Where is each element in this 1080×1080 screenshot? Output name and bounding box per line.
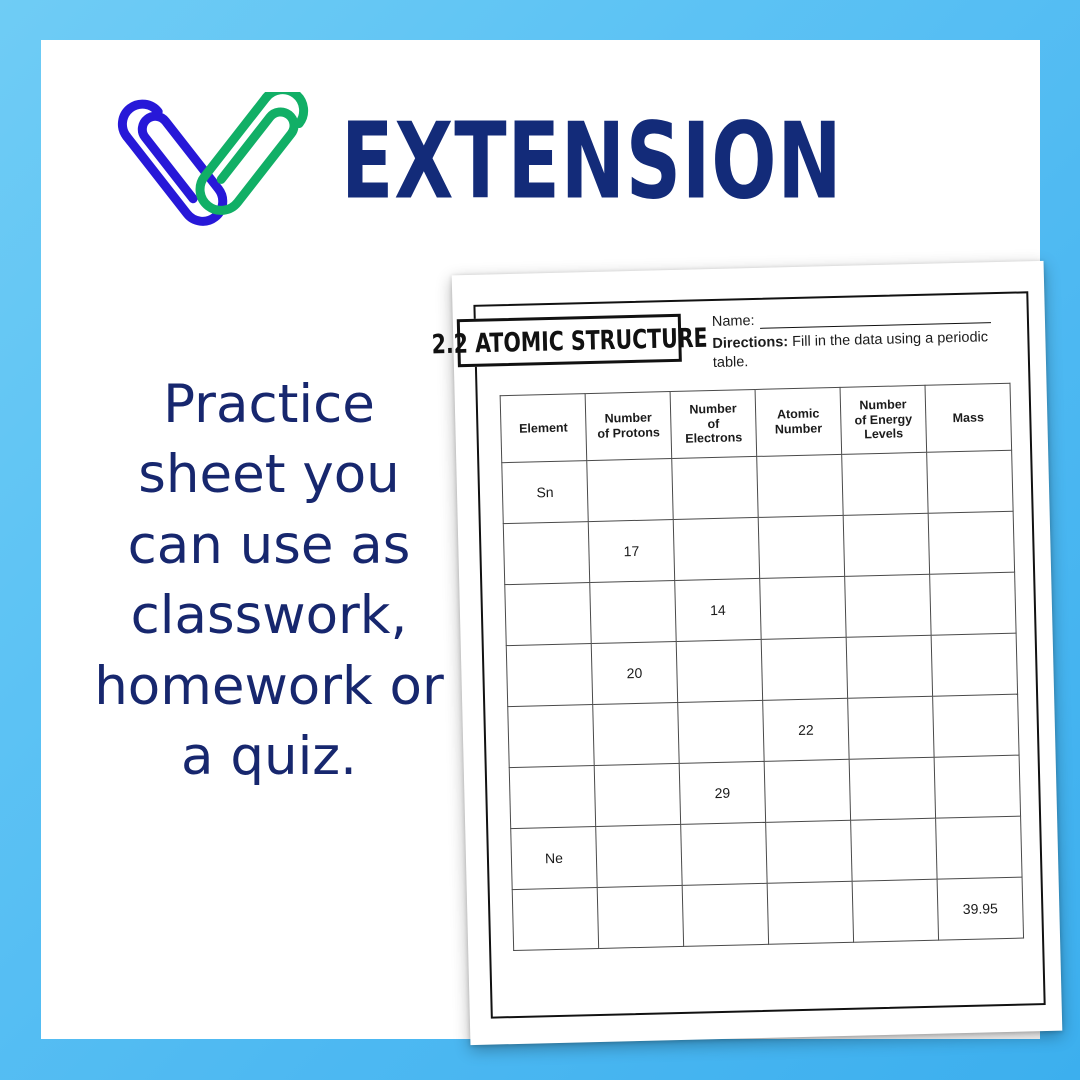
- table-cell-filled[interactable]: 22: [763, 698, 849, 761]
- table-cell-blank[interactable]: [848, 696, 934, 759]
- table-cell-blank[interactable]: [843, 513, 929, 576]
- table-cell-blank[interactable]: [758, 515, 844, 578]
- table-header-row: ElementNumberof ProtonsNumberofElectrons…: [500, 383, 1011, 462]
- atomic-structure-table: ElementNumberof ProtonsNumberofElectrons…: [500, 383, 1024, 951]
- table-cell-blank[interactable]: [508, 705, 594, 768]
- table-cell-blank[interactable]: [760, 576, 846, 639]
- table-cell-blank[interactable]: [842, 452, 928, 515]
- table-cell-filled[interactable]: 39.95: [937, 877, 1023, 940]
- table-column-header: AtomicNumber: [755, 387, 842, 456]
- table-cell-blank[interactable]: [503, 522, 589, 585]
- table-column-header: NumberofElectrons: [670, 389, 757, 458]
- name-label: Name:: [712, 312, 755, 332]
- table-column-header: Element: [500, 394, 587, 463]
- directions-label: Directions:: [712, 334, 788, 352]
- table-cell-filled[interactable]: Ne: [511, 826, 597, 889]
- table-cell-filled[interactable]: 20: [591, 641, 677, 704]
- table-cell-blank[interactable]: [678, 700, 764, 763]
- table-column-header: Numberof Protons: [585, 392, 672, 461]
- table-cell-blank[interactable]: [846, 635, 932, 698]
- table-header: ElementNumberof ProtonsNumberofElectrons…: [500, 383, 1011, 462]
- table-cell-blank[interactable]: [509, 766, 595, 829]
- white-content-panel: EXTENSION Practice sheet you can use as …: [41, 40, 1040, 1039]
- table-column-header-line: Mass: [952, 410, 984, 425]
- name-input-line[interactable]: [759, 310, 991, 329]
- table-cell-blank[interactable]: [506, 644, 592, 707]
- table-cell-blank[interactable]: [761, 637, 847, 700]
- table-cell-blank[interactable]: [845, 574, 931, 637]
- table-cell-blank[interactable]: [927, 450, 1013, 513]
- table-cell-blank[interactable]: [767, 881, 853, 944]
- table-cell-blank[interactable]: [851, 818, 937, 881]
- table-cell-blank[interactable]: [757, 454, 843, 517]
- table-column-header-line: Levels: [864, 427, 903, 442]
- table-column-header: Numberof EnergyLevels: [840, 385, 927, 454]
- page-title-text: EXTENSION: [341, 108, 842, 214]
- worksheet-page: 2.2 ATOMIC STRUCTURE Name: Directions: F…: [452, 261, 1063, 1045]
- table-cell-blank[interactable]: [934, 755, 1020, 818]
- table-cell-blank[interactable]: [596, 824, 682, 887]
- table-column-header-line: Number: [859, 397, 907, 412]
- table-cell-blank[interactable]: [852, 879, 938, 942]
- table-cell-blank[interactable]: [933, 694, 1019, 757]
- table-cell-blank[interactable]: [764, 759, 850, 822]
- table-row: 39.95: [512, 877, 1023, 950]
- table-cell-blank[interactable]: [676, 639, 762, 702]
- table-column-header-line: Number: [604, 411, 652, 426]
- table-cell-blank[interactable]: [672, 456, 758, 519]
- table-column-header-line: Electrons: [685, 431, 742, 446]
- description-text: Practice sheet you can use as classwork,…: [89, 370, 449, 793]
- table-cell-blank[interactable]: [928, 511, 1014, 574]
- table-column-header-line: of Energy: [854, 412, 912, 427]
- table-column-header: Mass: [925, 383, 1012, 452]
- table-cell-blank[interactable]: [597, 885, 683, 948]
- worksheet-title-text: 2.2 ATOMIC STRUCTURE: [431, 322, 708, 359]
- table-cell-blank[interactable]: [849, 757, 935, 820]
- directions-row: Directions: Fill in the data using a per…: [712, 328, 1014, 374]
- table-cell-blank[interactable]: [594, 763, 680, 826]
- table-column-header-line: Element: [519, 420, 568, 435]
- worksheet-border-frame: 2.2 ATOMIC STRUCTURE Name: Directions: F…: [473, 291, 1045, 1018]
- table-cell-filled[interactable]: 17: [588, 520, 674, 583]
- table-cell-filled[interactable]: 14: [675, 578, 761, 641]
- table-column-header-line: Number: [775, 421, 823, 436]
- table-cell-blank[interactable]: [931, 633, 1017, 696]
- table-cell-blank[interactable]: [930, 572, 1016, 635]
- table-cell-filled[interactable]: Sn: [502, 461, 588, 524]
- table-cell-blank[interactable]: [766, 820, 852, 883]
- slide-canvas: EXTENSION Practice sheet you can use as …: [0, 0, 1080, 1080]
- table-column-header-line: of Protons: [597, 425, 660, 441]
- table-body: Sn1714202229Ne39.95: [502, 450, 1024, 950]
- paperclip-green-icon: [192, 92, 313, 219]
- table-cell-blank[interactable]: [682, 883, 768, 946]
- paperclip-graphic: [111, 92, 326, 257]
- worksheet-title-box: 2.2 ATOMIC STRUCTURE: [457, 314, 682, 367]
- table-cell-blank[interactable]: [936, 816, 1022, 879]
- table-cell-blank[interactable]: [673, 517, 759, 580]
- table-column-header-line: Atomic: [777, 407, 820, 422]
- table-cell-blank[interactable]: [512, 887, 598, 950]
- table-column-header-line: Number: [689, 401, 737, 416]
- table-cell-blank[interactable]: [590, 580, 676, 643]
- table-cell-blank[interactable]: [593, 702, 679, 765]
- table-cell-blank[interactable]: [505, 583, 591, 646]
- table-cell-filled[interactable]: 29: [679, 761, 765, 824]
- page-title: EXTENSION: [341, 98, 861, 223]
- worksheet-meta: Name: Directions: Fill in the data using…: [712, 306, 1014, 374]
- table-column-header-line: of: [707, 416, 719, 430]
- table-cell-blank[interactable]: [681, 822, 767, 885]
- table-cell-blank[interactable]: [587, 459, 673, 522]
